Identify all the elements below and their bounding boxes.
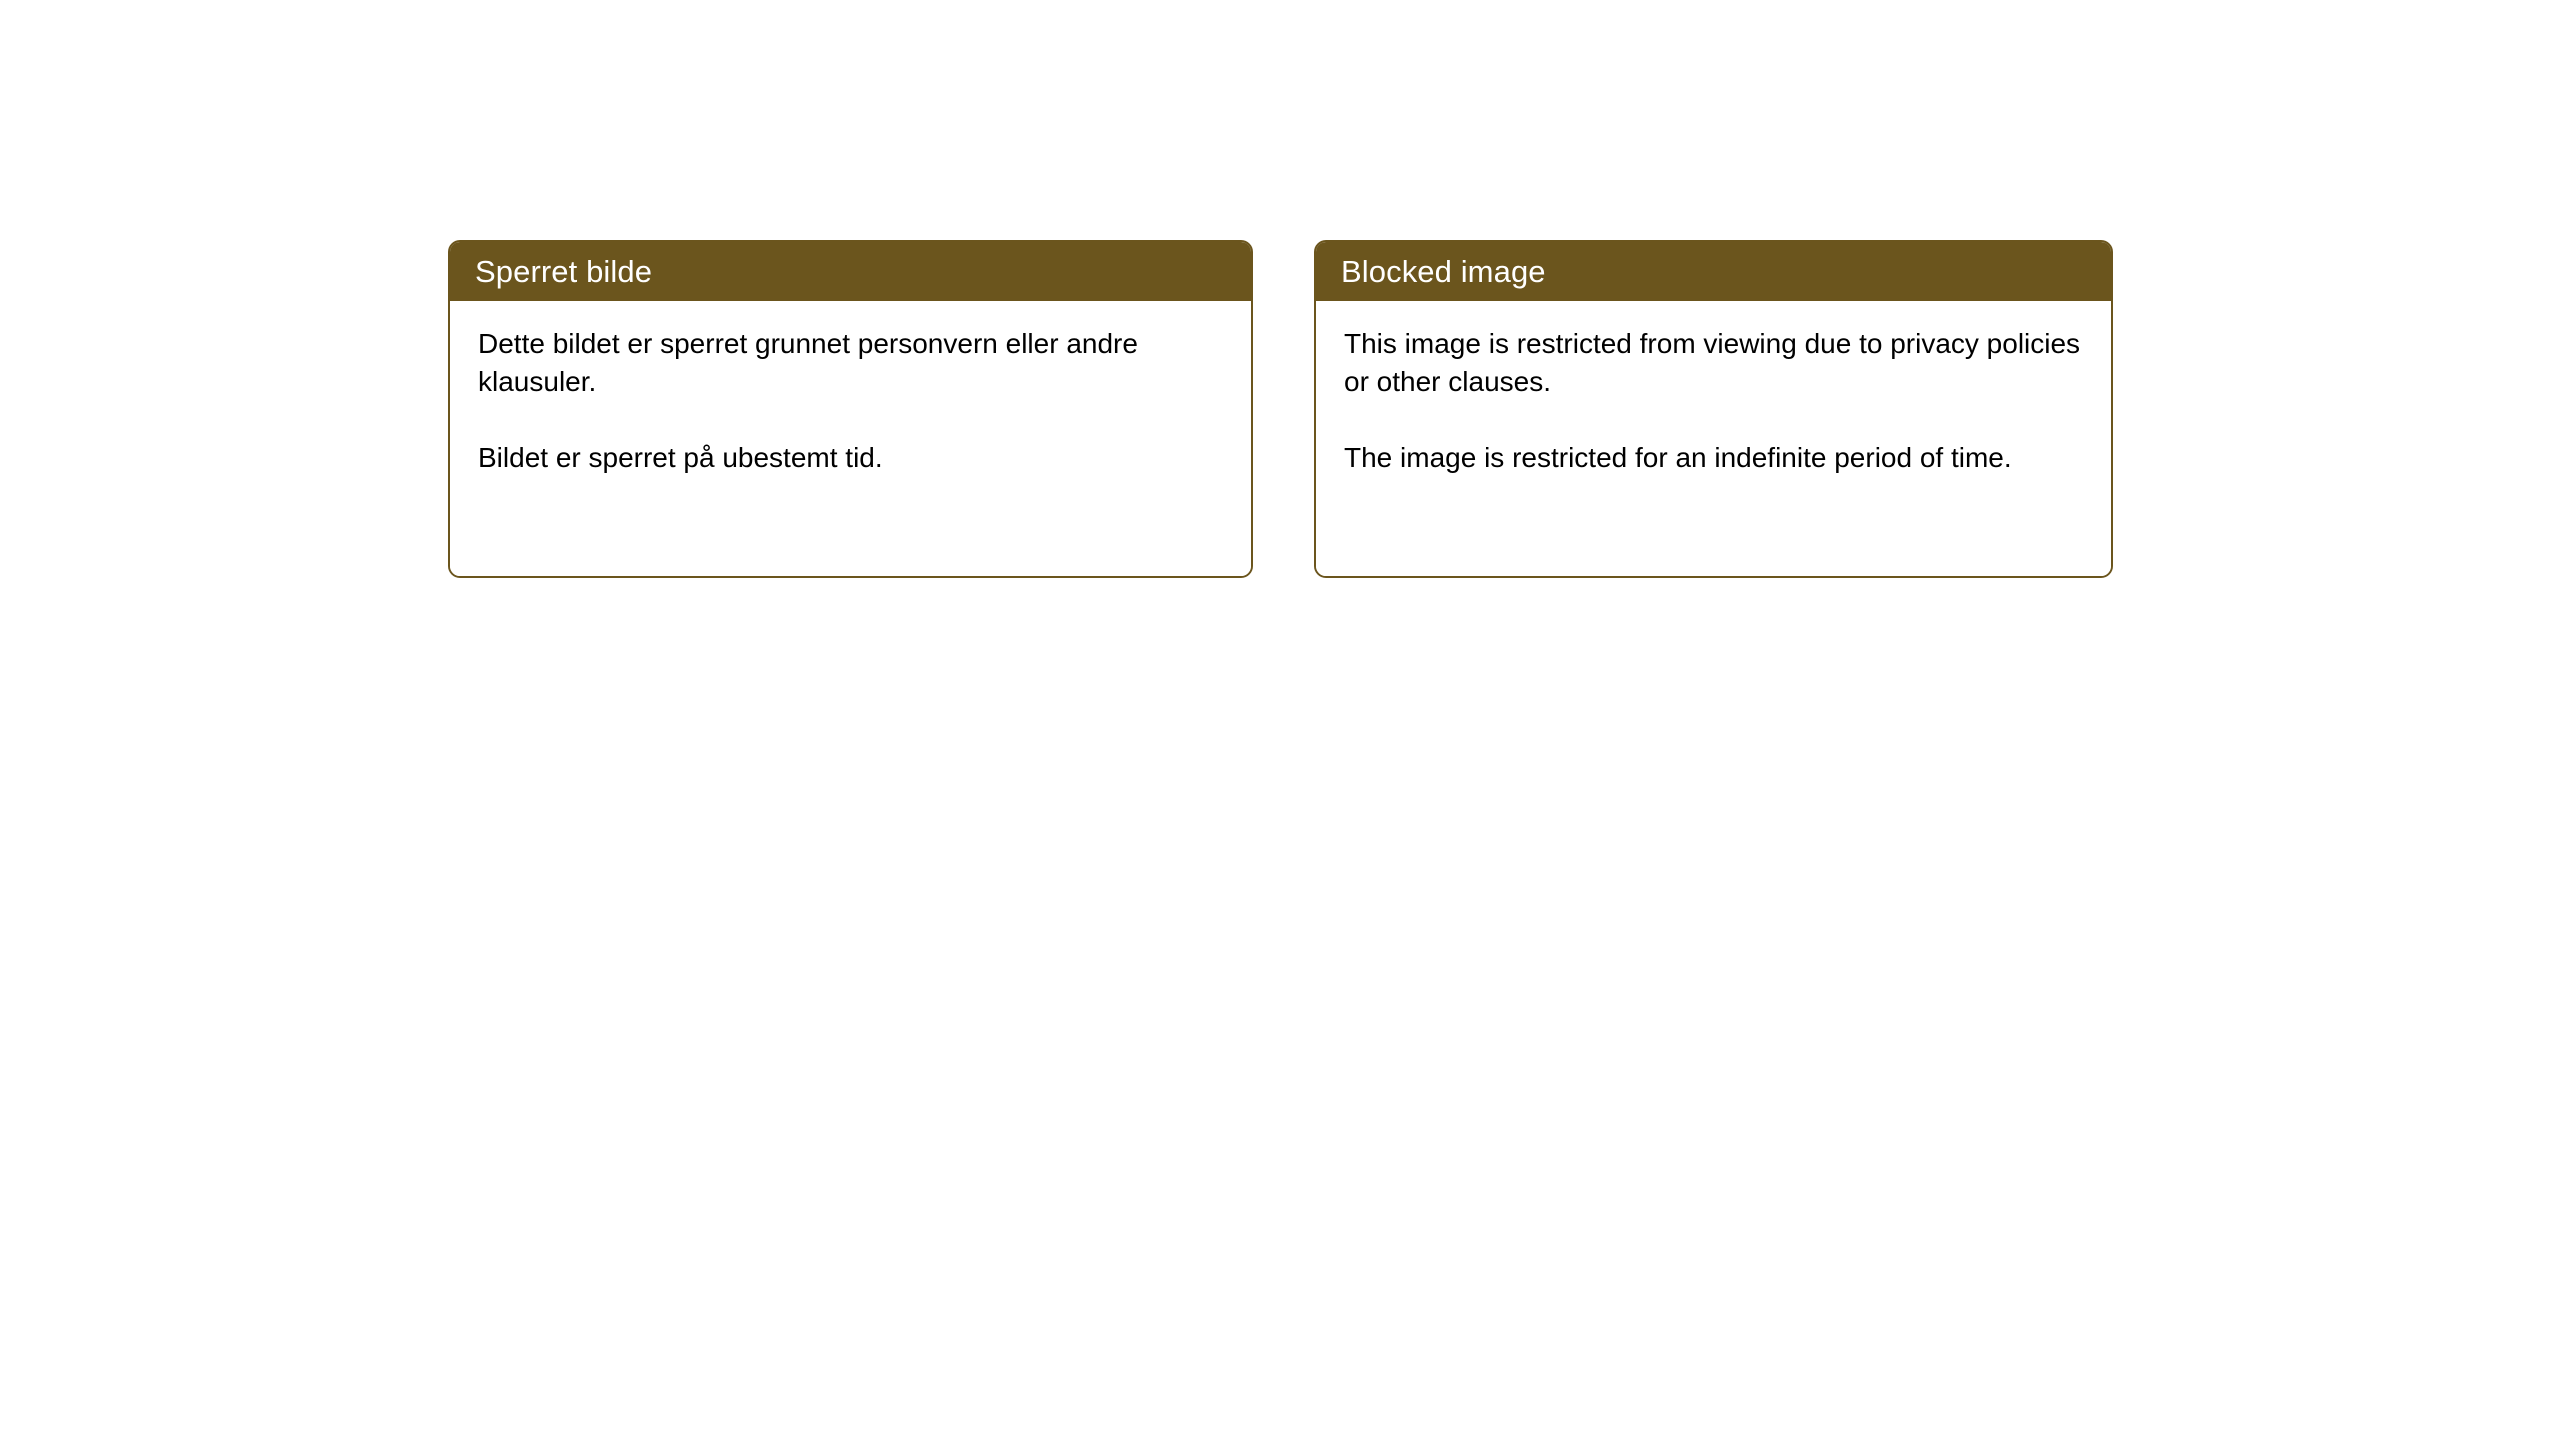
notice-paragraph: This image is restricted from viewing du… — [1344, 325, 2083, 401]
card-header-en: Blocked image — [1316, 242, 2111, 301]
card-header-no: Sperret bilde — [450, 242, 1251, 301]
page-root: Sperret bilde Dette bildet er sperret gr… — [0, 0, 2560, 1440]
notice-card-row: Sperret bilde Dette bildet er sperret gr… — [448, 240, 2113, 578]
paragraph-spacer — [478, 401, 1223, 439]
card-body-no: Dette bildet er sperret grunnet personve… — [450, 301, 1251, 576]
notice-paragraph: Bildet er sperret på ubestemt tid. — [478, 439, 1223, 477]
blocked-image-notice-card-no: Sperret bilde Dette bildet er sperret gr… — [448, 240, 1253, 578]
card-body-en: This image is restricted from viewing du… — [1316, 301, 2111, 576]
paragraph-spacer — [1344, 401, 2083, 439]
card-title-en: Blocked image — [1341, 256, 1546, 287]
notice-paragraph: The image is restricted for an indefinit… — [1344, 439, 2083, 477]
card-title-no: Sperret bilde — [475, 256, 652, 287]
blocked-image-notice-card-en: Blocked image This image is restricted f… — [1314, 240, 2113, 578]
notice-paragraph: Dette bildet er sperret grunnet personve… — [478, 325, 1223, 401]
